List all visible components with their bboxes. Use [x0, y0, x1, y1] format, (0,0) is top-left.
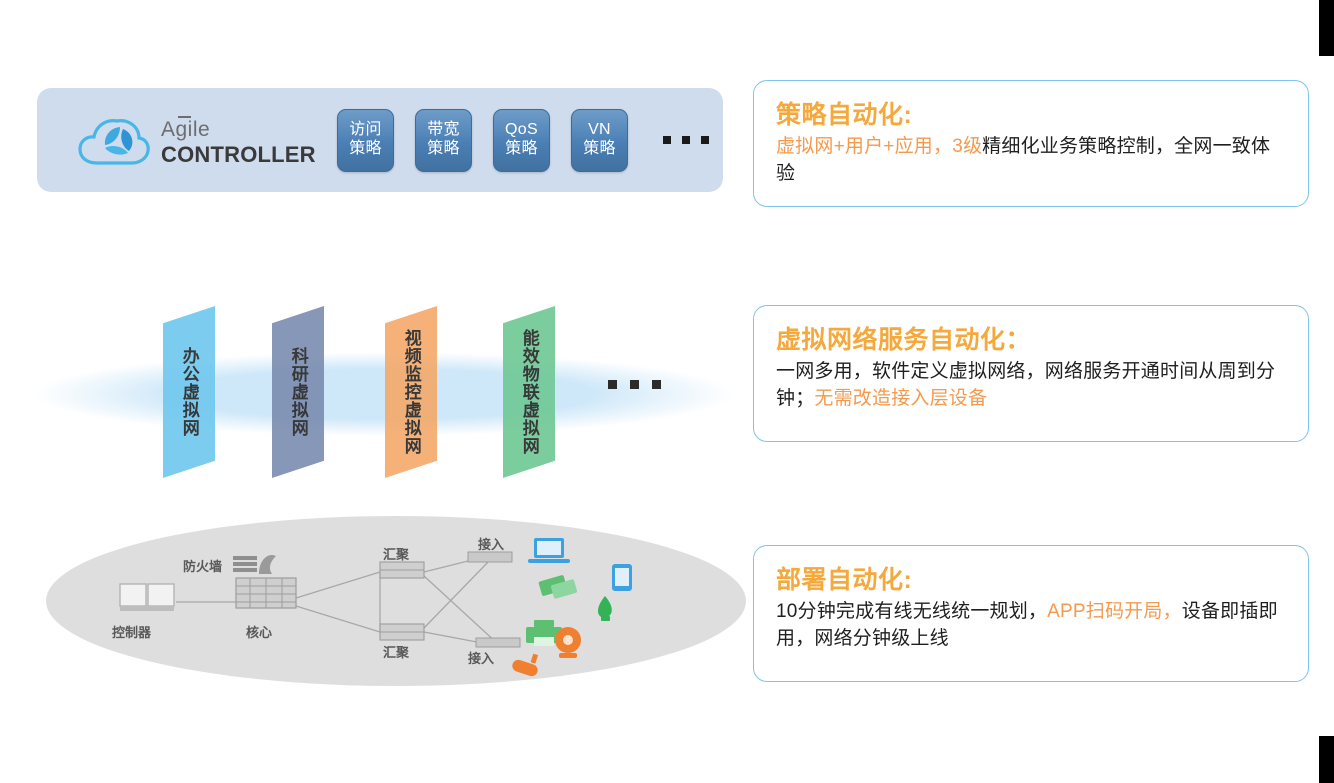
network-topology-group: 控制器 防火墙 核心 汇聚 汇聚 接入 接入	[28, 516, 744, 696]
deployment-automation-body-highlight: APP扫码开局，	[1047, 601, 1182, 622]
sensor-icon	[598, 596, 612, 621]
policy-chip-access[interactable]: 访问 策略	[337, 109, 394, 172]
virtual-network-backdrop	[34, 352, 734, 436]
policy-chip-bandwidth-line2: 策略	[427, 140, 460, 159]
vn-service-automation-title: 虚拟网络服务自动化：	[776, 320, 1286, 356]
policy-chip-qos-line2: 策略	[505, 140, 538, 159]
virtual-network-service-automation-card: 虚拟网络服务自动化： 一网多用，软件定义虚拟网络，网络服务开通时间从周到分钟；无…	[753, 305, 1309, 442]
core-switch-icon	[236, 578, 296, 608]
policy-chip-qos-line1: QoS	[505, 121, 538, 140]
plane-label-video-surveillance: 视频监控虚拟网	[401, 329, 421, 455]
laptop-icon	[528, 538, 570, 563]
topology-label-controller: 控制器	[112, 622, 151, 641]
virtual-network-planes-group: 办公虚拟网 科研虚拟网 视频监控虚拟网 能效物联虚拟网	[0, 292, 740, 497]
right-edge-bar-bottom	[1319, 736, 1334, 783]
topology-label-aggregation-lower: 汇聚	[383, 642, 409, 661]
topology-label-firewall: 防火墙	[183, 556, 222, 575]
topology-label-access-upper: 接入	[478, 534, 504, 553]
virtual-network-overflow-ellipsis-icon[interactable]	[608, 380, 661, 389]
firewall-device-icon	[233, 555, 276, 574]
brand-name-agile: Agile	[161, 117, 316, 140]
policy-overflow-ellipsis-icon[interactable]	[663, 136, 709, 144]
policy-chip-row: 访问 策略 带宽 策略 QoS 策略 VN 策略	[337, 101, 709, 179]
aggregation-switch-lower-icon	[380, 624, 424, 640]
vn-service-automation-body-highlight: 无需改造接入层设备	[814, 388, 987, 409]
topology-links-and-devices	[28, 516, 744, 696]
deployment-automation-body: 10分钟完成有线无线统一规划，APP扫码开局，设备即插即用，网络分钟级上线	[776, 599, 1286, 653]
policy-chip-bandwidth[interactable]: 带宽 策略	[415, 109, 472, 172]
topology-label-core: 核心	[246, 622, 272, 641]
cloud-icon	[77, 113, 151, 169]
policy-chip-bandwidth-line1: 带宽	[427, 121, 460, 140]
cctv-icon	[511, 654, 539, 678]
vn-service-automation-body: 一网多用，软件定义虚拟网络，网络服务开通时间从周到分钟；无需改造接入层设备	[776, 359, 1286, 413]
policy-chip-access-line2: 策略	[349, 140, 382, 159]
macron-accent	[178, 116, 191, 118]
policy-chip-vn-line1: VN	[588, 121, 611, 140]
plane-energy-iot-virtual-network: 能效物联虚拟网	[503, 306, 555, 478]
deployment-automation-card: 部署自动化: 10分钟完成有线无线统一规划，APP扫码开局，设备即插即用，网络分…	[753, 545, 1309, 682]
plane-label-office: 办公虚拟网	[179, 347, 199, 437]
camera-icon	[555, 627, 581, 658]
brand-name-controller: CONTROLLER	[161, 144, 316, 166]
policy-chip-vn-line2: 策略	[583, 140, 616, 159]
deployment-automation-body-p1: 10分钟完成有线无线统一规划，	[776, 601, 1047, 622]
tablet-icon	[612, 564, 632, 591]
plane-label-research: 科研虚拟网	[288, 347, 308, 437]
agile-controller-logo: Agile CONTROLLER	[77, 110, 327, 172]
plane-label-energy-iot: 能效物联虚拟网	[519, 329, 539, 455]
policy-chip-access-line1: 访问	[349, 121, 382, 140]
policy-automation-body: 虚拟网+用户+应用，3级精细化业务策略控制，全网一致体验	[776, 134, 1286, 188]
controller-device-icon	[120, 584, 174, 611]
aggregation-switch-upper-icon	[380, 562, 424, 578]
policy-chip-vn[interactable]: VN 策略	[571, 109, 628, 172]
agile-controller-band: Agile CONTROLLER 访问 策略 带宽 策略 QoS 策略 VN 策…	[37, 88, 723, 192]
policy-automation-body-highlight: 虚拟网+用户+应用，3级	[776, 136, 982, 157]
plane-video-surveillance-virtual-network: 视频监控虚拟网	[385, 306, 437, 478]
access-switch-lower-icon	[476, 638, 520, 647]
slide-canvas: Agile CONTROLLER 访问 策略 带宽 策略 QoS 策略 VN 策…	[0, 0, 1334, 783]
right-edge-bar-top	[1319, 0, 1334, 56]
topology-label-access-lower: 接入	[468, 648, 494, 667]
agile-controller-wordmark: Agile CONTROLLER	[161, 117, 316, 166]
policy-automation-title: 策略自动化:	[776, 95, 1286, 131]
brand-name-agile-text: Agile	[161, 118, 210, 141]
plane-research-virtual-network: 科研虚拟网	[272, 306, 324, 478]
policy-chip-qos[interactable]: QoS 策略	[493, 109, 550, 172]
policy-automation-card: 策略自动化: 虚拟网+用户+应用，3级精细化业务策略控制，全网一致体验	[753, 80, 1309, 207]
topology-label-aggregation-upper: 汇聚	[383, 544, 409, 563]
deployment-automation-title: 部署自动化:	[776, 560, 1286, 596]
plane-office-virtual-network: 办公虚拟网	[163, 306, 215, 478]
access-switch-upper-icon	[468, 552, 512, 562]
money-icon	[538, 575, 577, 599]
